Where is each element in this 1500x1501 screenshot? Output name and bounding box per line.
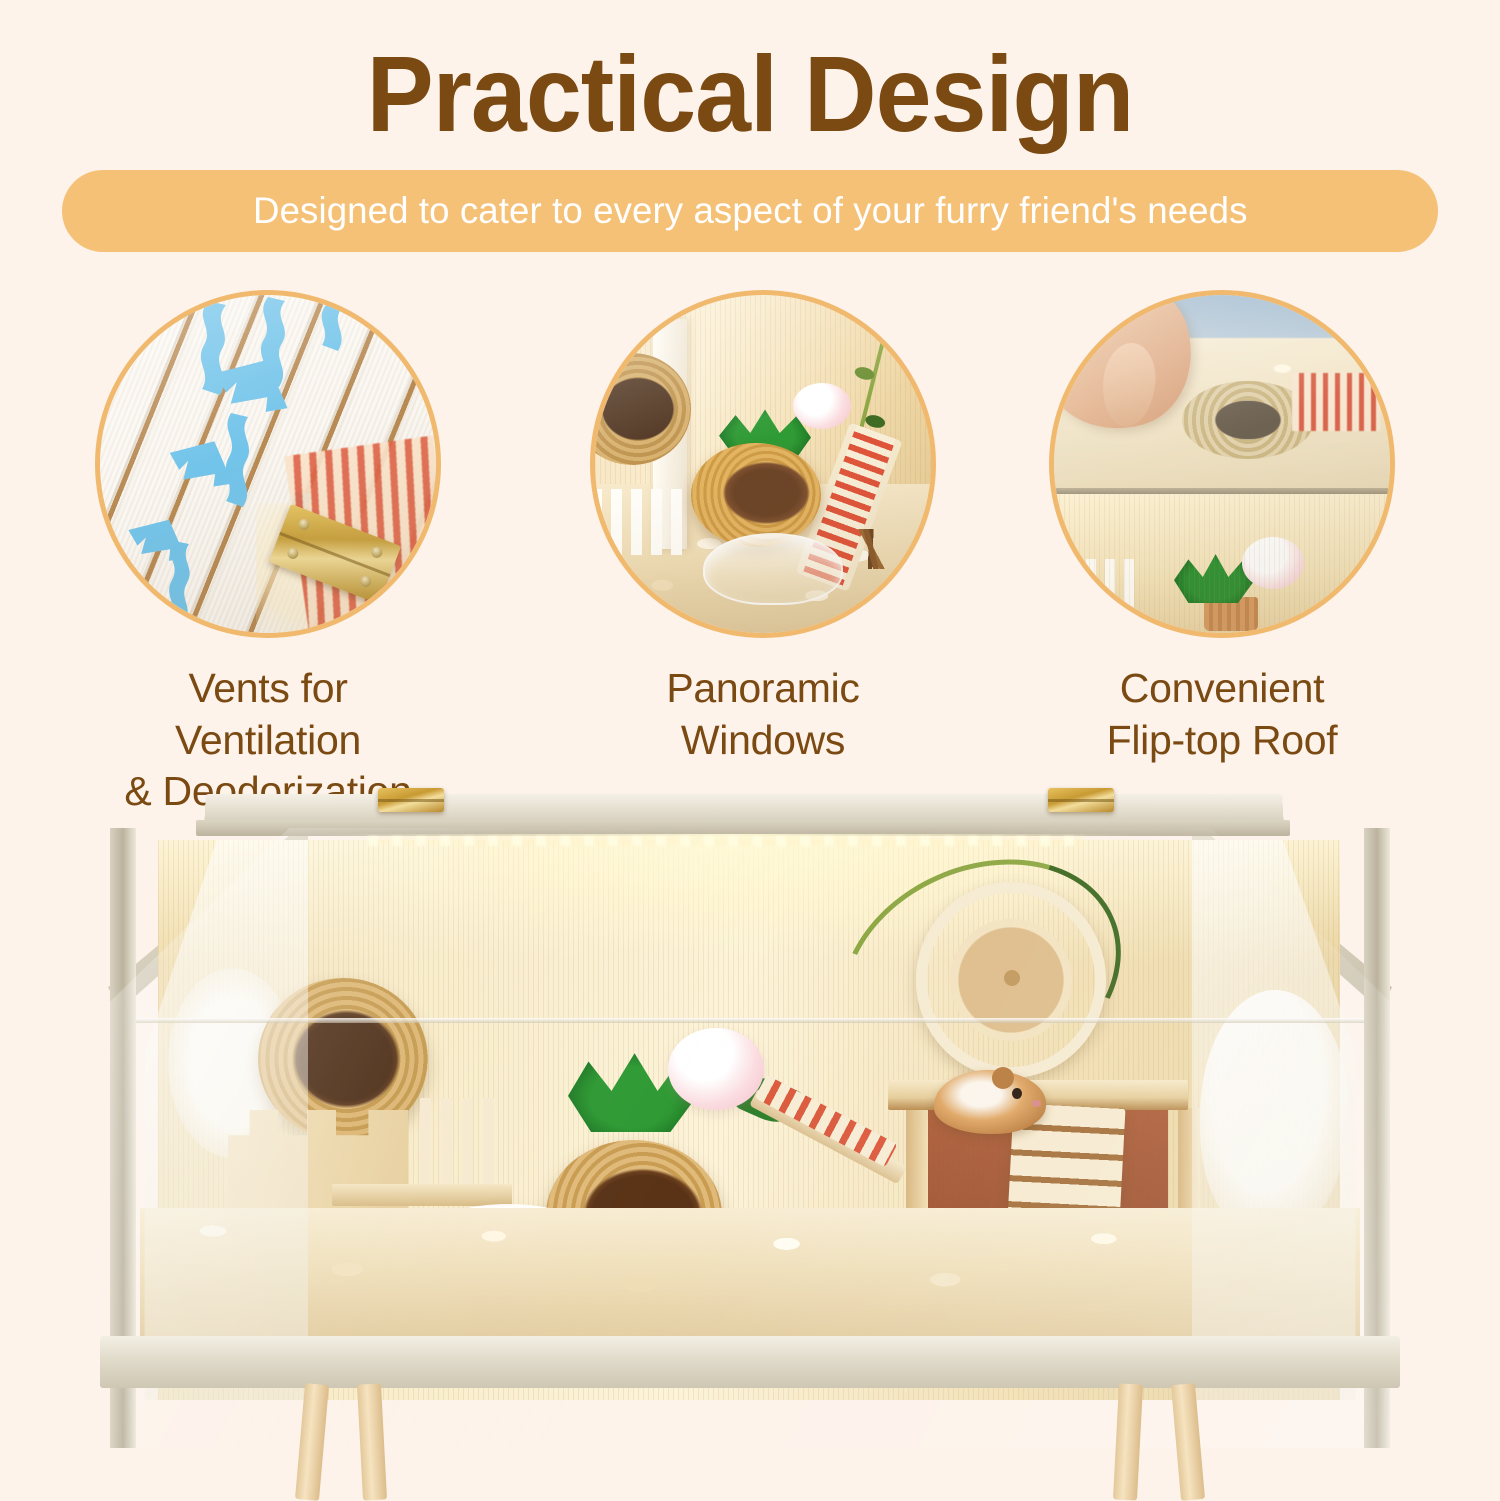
features-row: Vents for Ventilation & Deodorization — [0, 290, 1500, 770]
cage-leg — [1113, 1383, 1143, 1500]
lighting-shadow — [100, 295, 436, 633]
wooden-exercise-wheel — [916, 882, 1106, 1078]
hamster-body — [934, 1070, 1046, 1134]
base-frame — [100, 1336, 1400, 1388]
hamster-eye — [1012, 1088, 1022, 1099]
feature-label-line2: Flip-top Roof — [1049, 715, 1395, 767]
left-acrylic-panel — [118, 840, 308, 1400]
feature-ventilation: Vents for Ventilation & Deodorization — [95, 290, 441, 818]
product-photo — [0, 780, 1500, 1500]
cage-leg — [357, 1383, 387, 1500]
subtitle-banner: Designed to cater to every aspect of you… — [62, 170, 1438, 252]
led-light-strip — [368, 836, 1084, 846]
subtitle-text: Designed to cater to every aspect of you… — [253, 190, 1248, 232]
feature-label-windows: Panoramic Windows — [590, 663, 936, 766]
wooden-shelf-left — [332, 1184, 512, 1206]
brass-hinge-left-icon — [378, 788, 444, 812]
page-title: Practical Design — [53, 34, 1448, 155]
lighting-shadow — [1054, 295, 1390, 633]
acrylic-panel-seam — [118, 1018, 1380, 1023]
lighting-shadow — [595, 295, 931, 633]
cage-leg — [295, 1383, 329, 1501]
feature-flip-top-roof: Convenient Flip-top Roof — [1049, 290, 1395, 766]
hamster-ear — [992, 1067, 1014, 1089]
feature-image-vents — [95, 290, 441, 638]
brass-hinge-right-icon — [1048, 788, 1114, 812]
feature-label-line1: Panoramic — [590, 663, 936, 715]
wood-shaving-bedding — [140, 1208, 1360, 1336]
feature-label-line2: Windows — [590, 715, 936, 767]
feature-label-roof: Convenient Flip-top Roof — [1049, 663, 1395, 766]
feature-label-line1: Convenient — [1049, 663, 1395, 715]
hamster-nose — [1032, 1100, 1041, 1107]
hamster-on-platform — [934, 1070, 1046, 1134]
right-acrylic-panel — [1192, 840, 1382, 1400]
white-picket-fence — [420, 1098, 498, 1194]
feature-label-line1: Vents for Ventilation — [95, 663, 441, 766]
feature-image-roof — [1049, 290, 1395, 638]
feature-panoramic-windows: Panoramic Windows — [590, 290, 936, 766]
feature-image-windows — [590, 290, 936, 638]
pink-flower — [668, 1028, 764, 1110]
cage-leg — [1171, 1383, 1205, 1501]
